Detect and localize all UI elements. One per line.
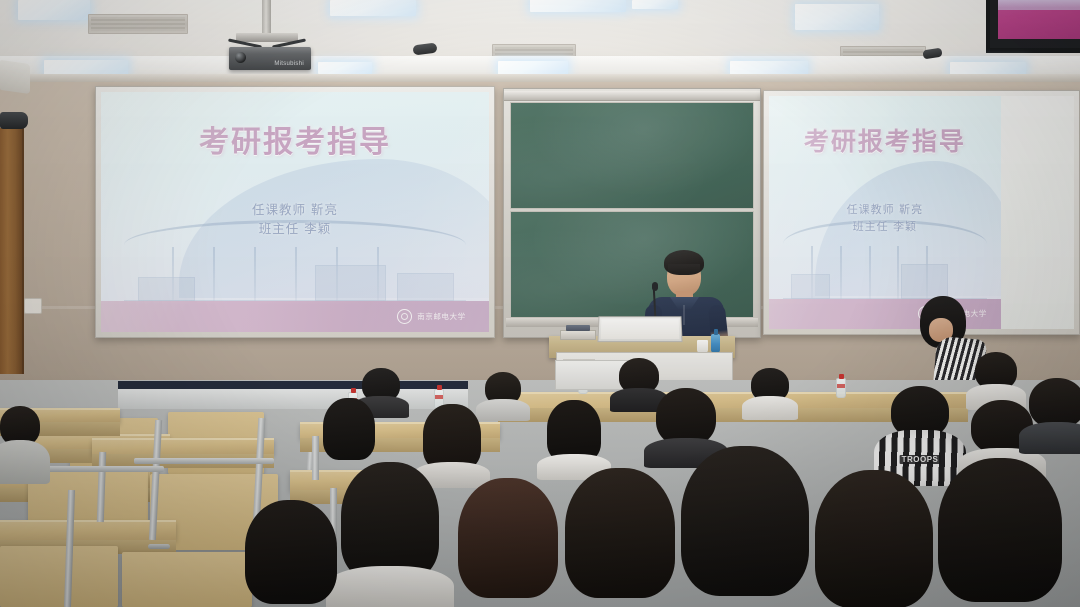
ceiling-light-panel [795, 4, 879, 30]
left-screen-surface: 考研报考指导 任课教师 靳亮 班主任 李颖 南京邮电大学 [101, 92, 489, 332]
right-screen-surface: 考研报考指导 任课教师 靳亮 班主任 李颖 南京邮电大学 [769, 96, 1074, 329]
slide-title: 考研报考指导 [101, 128, 489, 158]
slide-subtitle-line-1: 任课教师 靳亮 [101, 200, 489, 219]
podium-book [566, 325, 590, 331]
audience-member [930, 458, 1070, 607]
audience-member [0, 406, 48, 486]
person-hair [938, 458, 1062, 602]
person-hair [547, 400, 601, 462]
audience-member [968, 352, 1024, 404]
presenter-placket [683, 305, 685, 325]
ceiling-light-panel [530, 0, 626, 12]
person-hair [815, 470, 933, 607]
person-head [1029, 378, 1080, 428]
board-top-rail [504, 91, 760, 101]
person-hair [458, 478, 558, 598]
audience-member [236, 500, 346, 607]
monitor-screen [998, 0, 1080, 39]
slide-footer-band: 南京邮电大学 [101, 301, 489, 332]
person-shoulders [742, 396, 798, 420]
microphone-head-icon [652, 282, 658, 291]
presenter-hair [664, 250, 704, 275]
upper-board-panel [510, 102, 754, 209]
empty-seat-back[interactable] [122, 552, 252, 607]
projector-mount-pole [262, 0, 271, 36]
slide-footer-logo-text: 南京邮电大学 [417, 311, 466, 322]
ceiling-light-panel [498, 61, 568, 75]
slide-subtitle: 任课教师 靳亮 班主任 李颖 [769, 201, 1001, 235]
ceiling-projector: Mitsubishi [229, 47, 311, 70]
audience-member [540, 400, 608, 472]
person-hair [245, 500, 337, 604]
screen-blank-margin [1001, 96, 1074, 329]
presentation-slide: 考研报考指导 任课教师 靳亮 班主任 李颖 南京邮电大学 [101, 92, 489, 332]
university-seal-icon [397, 309, 412, 324]
empty-seat-back[interactable] [0, 546, 118, 607]
air-vent [88, 14, 188, 34]
left-projection-screen: 考研报考指导 任课教师 靳亮 班主任 李颖 南京邮电大学 [95, 86, 495, 338]
slide-title: 考研报考指导 [769, 129, 1001, 154]
audience-member [330, 462, 450, 607]
audience-member [448, 478, 568, 607]
seat-rail [134, 458, 274, 464]
ceiling-light-panel [44, 60, 128, 75]
classroom-door[interactable] [0, 128, 24, 374]
person-hair [681, 446, 809, 596]
blue-water-bottle [711, 334, 720, 353]
empty-desk [92, 438, 274, 454]
slide-subtitle: 任课教师 靳亮 班主任 李颖 [101, 200, 489, 239]
ceiling-light-panel [730, 61, 808, 75]
podium-papers [560, 330, 596, 340]
audience-member [744, 368, 796, 414]
audience-member [806, 470, 942, 607]
audience-member [1022, 378, 1080, 458]
presentation-slide: 考研报考指导 任课教师 靳亮 班主任 李颖 南京邮电大学 [769, 96, 1001, 329]
wall-monitor [986, 0, 1080, 53]
ceiling-light-panel [330, 0, 416, 16]
projector-brand-label: Mitsubishi [274, 61, 304, 67]
ceiling-light-panel [632, 0, 678, 9]
lecture-hall-photo: Mitsubishi [0, 0, 1080, 607]
ceiling-light-panel [318, 62, 372, 74]
audience-member [672, 446, 818, 607]
wall-camera [0, 112, 28, 129]
laptop-screen [601, 319, 680, 339]
audience-member [316, 398, 382, 468]
person-shoulders [0, 440, 50, 484]
person-hair [341, 462, 439, 580]
wall-trim [0, 74, 1080, 82]
person-hair [423, 404, 481, 470]
person-hair [565, 468, 675, 598]
person-hair [323, 398, 375, 460]
person-shoulders [1019, 422, 1080, 454]
slide-subtitle-line-2: 班主任 李颖 [769, 218, 1001, 235]
audience-member [556, 468, 684, 607]
slide-subtitle-line-1: 任课教师 靳亮 [769, 201, 1001, 218]
light-switch[interactable] [24, 298, 42, 314]
podium-laptop[interactable] [597, 316, 682, 342]
water-bottle [836, 378, 846, 398]
slide-subtitle-line-2: 班主任 李颖 [101, 219, 489, 238]
projector-lens-icon [235, 52, 246, 63]
desk-foot [148, 544, 170, 549]
ceiling-light-panel [18, 0, 90, 20]
wall-speaker [0, 60, 30, 94]
